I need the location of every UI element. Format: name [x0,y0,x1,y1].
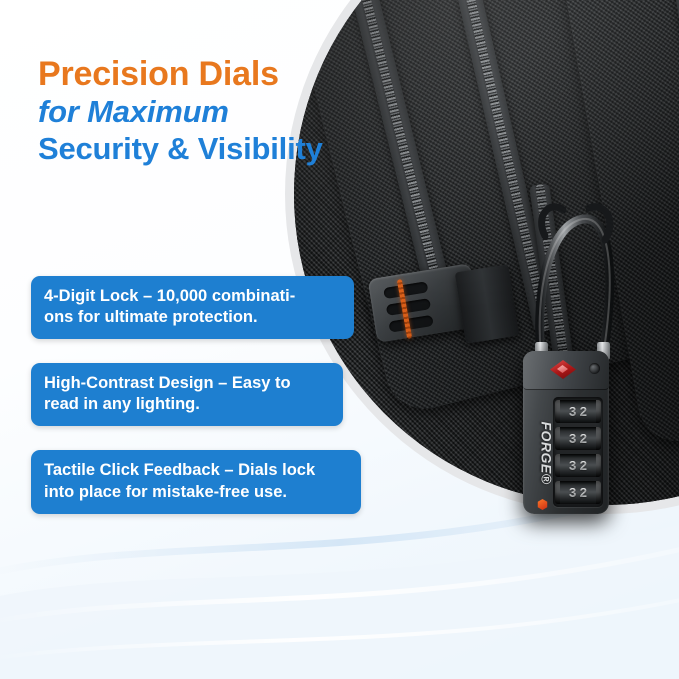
callout-line-1: High-Contrast Design – Easy to [44,373,330,394]
dial-row[interactable]: 3 2 [555,454,601,477]
callout-line-1: 4-Digit Lock – 10,000 combinati- [44,286,341,307]
headline-line-3: Security & Visibility [38,132,398,167]
tsa-diamond-icon [550,360,576,379]
dial-row[interactable]: 3 2 [555,400,601,423]
dial-digits: 3 2 [568,459,588,472]
feature-callout-high-contrast-design: High-Contrast Design – Easy to read in a… [31,363,343,426]
feature-callout-tactile-click-feedback: Tactile Click Feedback – Dials lock into… [31,450,361,513]
headline-block: Precision Dials for Maximum Security & V… [38,55,398,167]
lock-body: FORGE® 3 2 3 2 3 2 [523,351,609,514]
reset-button-icon [589,363,600,374]
dial-stack: 3 2 3 2 3 2 3 2 [553,397,603,507]
headline-line-2: for Maximum [38,95,398,130]
dial-row[interactable]: 3 2 [555,481,601,504]
lock-top-cap [523,351,609,390]
headline-line-1: Precision Dials [38,55,398,93]
callout-line-1: Tactile Click Feedback – Dials lock [44,460,348,481]
dial-row[interactable]: 3 2 [555,427,601,450]
callout-line-2: into place for mistake-free use. [44,482,348,503]
feature-callout-four-digit-lock: 4-Digit Lock – 10,000 combinati- ons for… [31,276,354,339]
dial-digits: 3 2 [568,405,588,418]
dial-digits: 3 2 [568,486,588,499]
feature-callout-list: 4-Digit Lock – 10,000 combinati- ons for… [31,276,366,514]
callout-line-2: read in any lighting. [44,394,330,415]
dial-digits: 3 2 [568,432,588,445]
combination-lock: FORGE® 3 2 3 2 3 2 [505,196,635,526]
callout-line-2: ons for ultimate protection. [44,307,341,328]
promo-canvas: FORGE® 3 2 3 2 3 2 [0,0,679,679]
